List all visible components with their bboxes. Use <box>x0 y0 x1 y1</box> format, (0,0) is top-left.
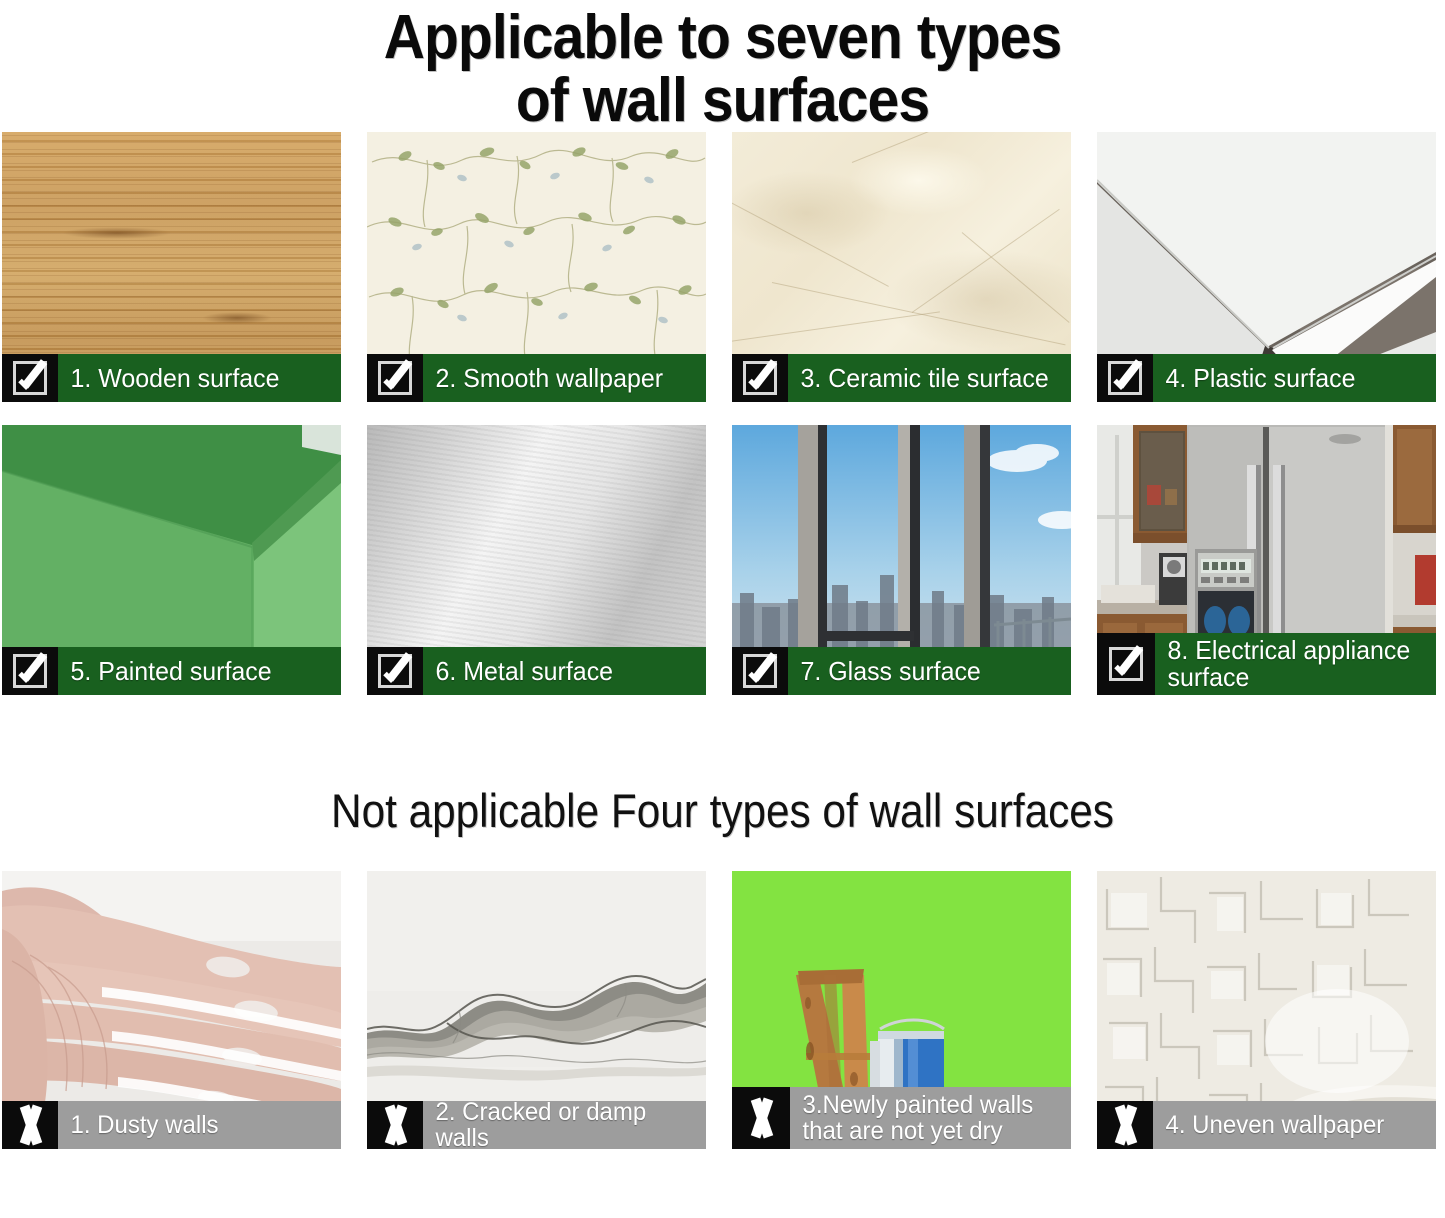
surface-tile-painted[interactable]: 5. Painted surface <box>2 425 341 695</box>
surface-label-text: 3. Ceramic tile surface <box>788 354 1060 402</box>
unsuitable-tile-cracked-walls[interactable]: 2. Cracked or damp walls <box>367 871 706 1149</box>
x-mark-icon <box>2 1101 58 1149</box>
applicable-grid-row-1: 1. Wooden surface <box>2 132 1384 402</box>
unsuitable-label-text: 3.Newly painted walls that are not yet d… <box>790 1087 1060 1149</box>
checkbox-checked-icon <box>1097 633 1155 695</box>
main-title-block: Applicable to seven types of wall surfac… <box>0 0 1445 132</box>
x-mark-icon <box>1097 1101 1153 1149</box>
surface-label-bar: 2. Smooth wallpaper <box>367 354 706 402</box>
unsuitable-label-text: 2. Cracked or damp walls <box>423 1101 695 1149</box>
surface-label-text: 7. Glass surface <box>788 647 1060 695</box>
applicable-grid-row-2: 5. Painted surface 6. Metal surface <box>2 425 1384 695</box>
x-mark-icon <box>732 1087 790 1149</box>
checkbox-checked-icon <box>2 354 58 402</box>
surface-tile-glass[interactable]: 7. Glass surface <box>732 425 1071 695</box>
surface-label-text: 8. Electrical appliance surface <box>1155 633 1425 695</box>
surface-label-text: 5. Painted surface <box>58 647 330 695</box>
surface-label-text: 2. Smooth wallpaper <box>423 354 695 402</box>
surface-label-bar: 3. Ceramic tile surface <box>732 354 1071 402</box>
unsuitable-label-bar: 4. Uneven wallpaper <box>1097 1101 1436 1149</box>
checkbox-checked-icon <box>1097 354 1153 402</box>
surface-label-bar: 6. Metal surface <box>367 647 706 695</box>
surface-tile-wooden[interactable]: 1. Wooden surface <box>2 132 341 402</box>
surface-tile-smooth-wallpaper[interactable]: 2. Smooth wallpaper <box>367 132 706 402</box>
surface-label-bar: 7. Glass surface <box>732 647 1071 695</box>
surface-label-text: 1. Wooden surface <box>58 354 330 402</box>
surface-tile-plastic[interactable]: 4. Plastic surface <box>1097 132 1436 402</box>
checkbox-checked-icon <box>732 354 788 402</box>
surface-label-bar: 1. Wooden surface <box>2 354 341 402</box>
not-applicable-grid: 1. Dusty walls <box>2 871 1384 1149</box>
unsuitable-label-bar: 2. Cracked or damp walls <box>367 1101 706 1149</box>
unsuitable-tile-uneven-wallpaper[interactable]: 4. Uneven wallpaper <box>1097 871 1436 1149</box>
x-mark-icon <box>367 1101 423 1149</box>
surface-label-bar: 4. Plastic surface <box>1097 354 1436 402</box>
checkbox-checked-icon <box>367 354 423 402</box>
page-title: Applicable to seven types of wall surfac… <box>58 6 1387 132</box>
surface-tile-ceramic[interactable]: 3. Ceramic tile surface <box>732 132 1071 402</box>
surface-tile-metal[interactable]: 6. Metal surface <box>367 425 706 695</box>
unsuitable-tile-newly-painted[interactable]: 3.Newly painted walls that are not yet d… <box>732 871 1071 1149</box>
surface-label-text: 4. Plastic surface <box>1153 354 1425 402</box>
unsuitable-label-bar: 3.Newly painted walls that are not yet d… <box>732 1087 1071 1149</box>
checkbox-checked-icon <box>732 647 788 695</box>
unsuitable-label-bar: 1. Dusty walls <box>2 1101 341 1149</box>
section-subtitle: Not applicable Four types of wall surfac… <box>72 787 1373 834</box>
unsuitable-label-text: 1. Dusty walls <box>58 1101 330 1149</box>
surface-tile-electrical-appliance[interactable]: 8. Electrical appliance surface <box>1097 425 1436 695</box>
unsuitable-label-text: 4. Uneven wallpaper <box>1153 1101 1425 1149</box>
surface-label-bar: 8. Electrical appliance surface <box>1097 633 1436 695</box>
surface-label-bar: 5. Painted surface <box>2 647 341 695</box>
unsuitable-tile-dusty-walls[interactable]: 1. Dusty walls <box>2 871 341 1149</box>
surface-label-text: 6. Metal surface <box>423 647 695 695</box>
checkbox-checked-icon <box>367 647 423 695</box>
checkbox-checked-icon <box>2 647 58 695</box>
not-applicable-title-block: Not applicable Four types of wall surfac… <box>0 787 1445 855</box>
